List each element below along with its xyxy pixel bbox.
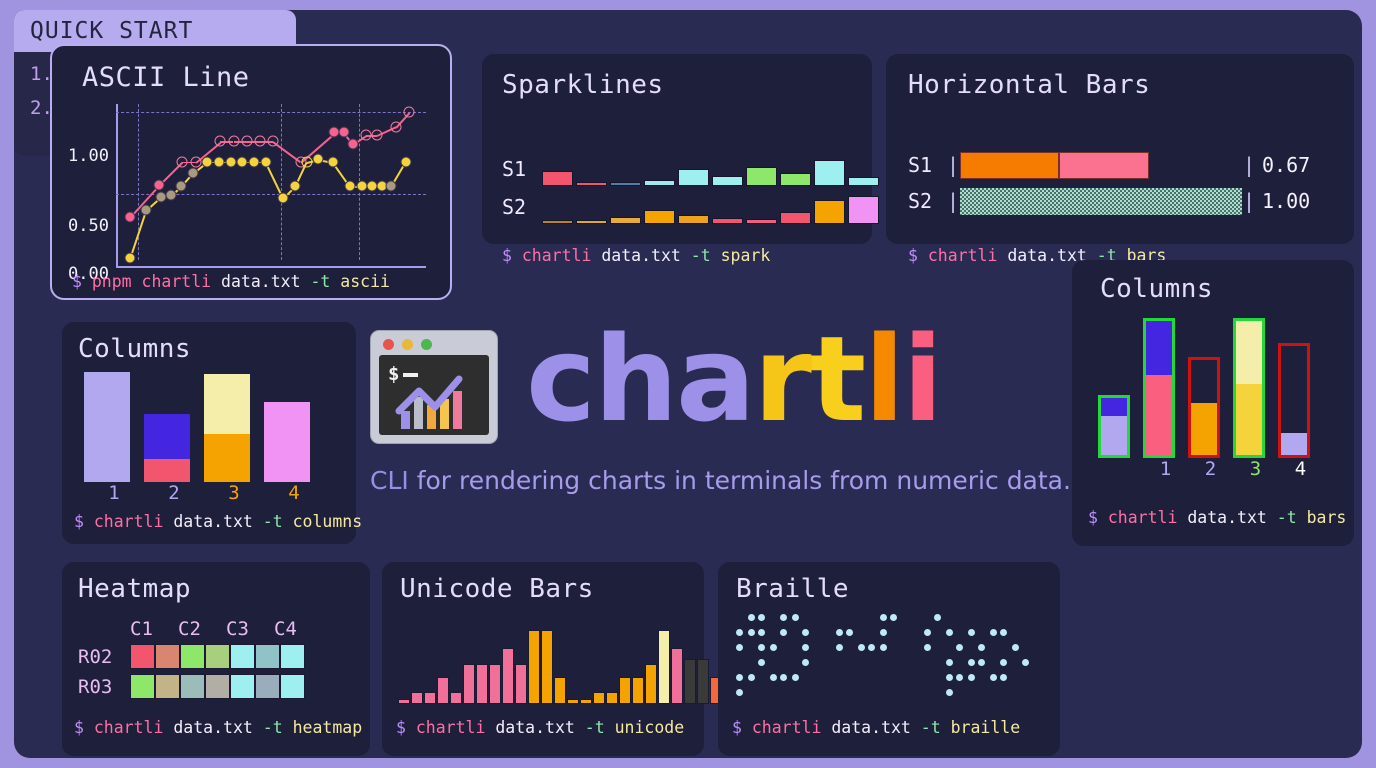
heatmap-column-label: C3 — [226, 618, 274, 640]
wordmark-part-0: cha — [526, 310, 754, 448]
unicode-bar — [463, 664, 475, 705]
shell-prompt: $ — [396, 718, 406, 737]
braille-dot — [1000, 674, 1007, 681]
command-value: columns — [293, 512, 363, 531]
unicode-bar — [658, 630, 670, 704]
braille-dot — [758, 644, 765, 651]
shell-prompt: $ — [732, 718, 742, 737]
sparkline-bar — [576, 220, 607, 224]
data-point — [165, 190, 176, 201]
column-label: 3 — [1233, 458, 1278, 480]
sparkline-bar — [746, 167, 777, 186]
ascii-line-card: ASCII Line 1.00 0.50 0.00 $ pnpm chartli… — [50, 44, 452, 300]
hbar-pipe-left: | — [946, 189, 960, 213]
data-point — [260, 156, 271, 167]
command-program: chartli — [752, 718, 822, 737]
unicode-bar — [684, 659, 696, 704]
braille-dot — [770, 674, 777, 681]
column-label: 3 — [204, 482, 264, 504]
column-bar — [144, 414, 190, 482]
braille-dot — [946, 674, 953, 681]
braille-dot — [890, 614, 897, 621]
column-segment — [1191, 360, 1217, 403]
sparkline-bar — [576, 182, 607, 186]
heatmap-command: $ chartli data.txt -t heatmap — [74, 718, 362, 737]
command-value: heatmap — [293, 718, 363, 737]
braille-dot — [1022, 659, 1029, 666]
braille-dot — [880, 614, 887, 621]
data-point — [345, 181, 356, 192]
command-flag: -t — [263, 718, 283, 737]
sparkline-bar — [780, 173, 811, 186]
tagline: CLI for rendering charts in terminals fr… — [370, 466, 1071, 495]
column-bar — [1098, 395, 1130, 458]
data-point — [175, 181, 186, 192]
unicode-bar — [437, 677, 449, 704]
braille-dot — [770, 644, 777, 651]
heatmap-cell — [230, 644, 255, 669]
command-flag: -t — [263, 512, 283, 531]
gridline-v — [281, 104, 282, 260]
columns-right-labels: 1234 — [1098, 458, 1323, 480]
column-bar — [1188, 357, 1220, 458]
data-point — [187, 168, 198, 179]
braille-dot — [748, 674, 755, 681]
column-bar — [204, 374, 250, 482]
hbar-fill-orange — [960, 152, 1059, 179]
hbar-pipe-right: | — [1242, 189, 1256, 213]
heatmap-column-label: C1 — [130, 618, 178, 640]
sparkline-bar — [848, 177, 879, 186]
svg-text:$: $ — [388, 363, 399, 385]
braille-dot — [880, 629, 887, 636]
command-file: data.txt — [173, 512, 252, 531]
data-point — [228, 136, 239, 147]
data-point — [301, 156, 312, 167]
unicode-bar — [554, 677, 566, 704]
sparklines-card: Sparklines S1 S2 $ chartli data.txt -t s… — [482, 54, 872, 244]
unicode-bar — [619, 677, 631, 704]
braille-dot — [1000, 659, 1007, 666]
ascii-command: $ pnpm chartli data.txt -t ascii — [72, 272, 390, 291]
braille-dot — [990, 629, 997, 636]
heatmap-row-label: R02 — [78, 646, 130, 668]
data-point — [124, 253, 135, 264]
braille-dot — [968, 674, 975, 681]
heatmap-cell — [180, 644, 205, 669]
tagline-lead: CLI — [370, 466, 409, 495]
braille-dot — [968, 659, 975, 666]
shell-prompt: $ — [1088, 508, 1098, 527]
braille-dot — [978, 659, 985, 666]
wordmark-part-2: t — [810, 310, 864, 448]
braille-dot — [968, 629, 975, 636]
command-value: braille — [951, 718, 1021, 737]
braille-dot — [978, 644, 985, 651]
sparkline-bar — [610, 182, 641, 186]
column-segment — [144, 414, 190, 459]
sparkline-bar — [644, 210, 675, 224]
sparkline-bar — [542, 171, 573, 186]
braille-dot — [780, 614, 787, 621]
terminal-chart-icon: $ — [370, 330, 498, 444]
ascii-ytick-1: 1.00 — [68, 146, 109, 166]
hbar-track — [960, 188, 1242, 215]
sparklines-command: $ chartli data.txt -t spark — [502, 246, 770, 265]
heatmap-card: Heatmap C1C2C3C4 R02 R03 $ chartli data.… — [62, 562, 370, 756]
command-file: data.txt — [221, 272, 300, 291]
braille-command: $ chartli data.txt -t braille — [732, 718, 1020, 737]
wordmark: chartli — [526, 320, 941, 438]
unicode-bars-card: Unicode Bars $ chartli data.txt -t unico… — [382, 562, 704, 756]
command-flag: -t — [310, 272, 330, 291]
column-bar — [1233, 318, 1265, 458]
braille-dot — [736, 644, 743, 651]
unicode-bar — [502, 648, 514, 704]
data-point — [403, 107, 414, 118]
column-segment — [1146, 321, 1172, 375]
wordmark-part-3: l — [864, 310, 902, 448]
command-flag: -t — [1277, 508, 1297, 527]
data-point — [202, 156, 213, 167]
sparkline-label: S2 — [502, 190, 542, 224]
sparklines-title: Sparklines — [502, 70, 664, 100]
data-point — [254, 136, 265, 147]
heatmap-cells — [130, 644, 305, 669]
braille-plot — [736, 614, 1036, 704]
data-point — [278, 193, 289, 204]
wordmark-part-4: i — [903, 310, 941, 448]
heatmap-cell — [255, 674, 280, 699]
ascii-line-plot — [116, 104, 426, 268]
braille-dot — [836, 629, 843, 636]
traffic-light-green — [421, 339, 432, 350]
sparkline-bars — [542, 190, 879, 224]
data-point — [213, 156, 224, 167]
column-bar — [84, 372, 130, 482]
sparkline-bar — [814, 200, 845, 224]
column-segment — [1236, 321, 1262, 384]
data-point — [154, 180, 165, 191]
command-program: chartli — [94, 512, 164, 531]
sparkline-bar — [780, 212, 811, 224]
unicode-bar — [697, 659, 709, 704]
quick-start-title: QUICK START — [30, 18, 193, 44]
command-file: data.txt — [173, 718, 252, 737]
columns-right-command: $ chartli data.txt -t bars — [1088, 508, 1346, 527]
unicode-bar — [515, 664, 527, 705]
traffic-light-yellow — [402, 339, 413, 350]
column-label: 4 — [264, 482, 324, 504]
column-segment — [264, 402, 310, 482]
sparkline-bar — [678, 215, 709, 224]
horizontal-bars-title: Horizontal Bars — [908, 70, 1150, 100]
unicode-bar — [411, 692, 423, 704]
column-segment — [1101, 416, 1127, 455]
unicode-bar — [632, 677, 644, 704]
wordmark-part-1: r — [754, 310, 810, 448]
braille-dot — [946, 659, 953, 666]
data-point — [225, 156, 236, 167]
braille-dot — [934, 614, 941, 621]
command-flag: -t — [921, 718, 941, 737]
columns-right-card: Columns 1234 $ chartli data.txt -t bars — [1072, 260, 1354, 546]
shell-prompt: $ — [74, 512, 84, 531]
unicode-bar — [671, 648, 683, 704]
unicode-bar — [567, 699, 579, 704]
command-program: chartli — [928, 246, 998, 265]
braille-dot — [836, 644, 843, 651]
braille-dot — [1012, 644, 1019, 651]
data-point — [155, 191, 166, 202]
column-bar — [1143, 318, 1175, 458]
data-point — [248, 156, 259, 167]
hero-branding: $ chartli CLI for rendering charts in te… — [366, 326, 1056, 506]
heatmap-cell — [230, 674, 255, 699]
braille-dot — [736, 674, 743, 681]
unicode-bar — [580, 699, 592, 704]
heatmap-cell — [255, 644, 280, 669]
braille-dot — [802, 659, 809, 666]
command-program: pnpm chartli — [92, 272, 211, 291]
heatmap-row-label: R03 — [78, 676, 130, 698]
columns-right-title: Columns — [1100, 274, 1213, 304]
hbar-label: S2 — [908, 189, 946, 213]
tagline-rest: for rendering charts in terminals from n… — [409, 466, 1071, 495]
hbar-value: 0.67 — [1262, 153, 1310, 177]
data-point — [339, 127, 350, 138]
sparkline-bar — [678, 169, 709, 186]
heatmap-column-label: C2 — [178, 618, 226, 640]
data-point — [390, 121, 401, 132]
command-program: chartli — [94, 718, 164, 737]
braille-dot — [792, 614, 799, 621]
columns-left-title: Columns — [78, 334, 191, 364]
unicode-bar — [476, 664, 488, 705]
column-bar — [264, 402, 310, 482]
data-point — [140, 204, 151, 215]
data-point — [313, 153, 324, 164]
command-program: chartli — [416, 718, 486, 737]
command-file: data.txt — [1187, 508, 1266, 527]
column-segment — [144, 459, 190, 482]
unicode-bar — [645, 664, 657, 705]
columns-left-command: $ chartli data.txt -t columns — [74, 512, 362, 531]
heatmap-column-label: C4 — [274, 618, 322, 640]
unicode-bar — [606, 692, 618, 704]
command-flag: -t — [691, 246, 711, 265]
data-point — [386, 181, 397, 192]
unicode-bars-plot — [398, 614, 735, 704]
braille-dot — [956, 674, 963, 681]
command-file: data.txt — [831, 718, 910, 737]
column-label — [1098, 458, 1143, 480]
hbar-row-s2: S2 | | 1.00 — [908, 186, 1310, 216]
braille-dot — [880, 644, 887, 651]
sparkline-bar — [746, 219, 777, 224]
heatmap-cells — [130, 674, 305, 699]
sparkline-bar — [610, 217, 641, 224]
terminal-screen-content: $ — [379, 355, 491, 437]
braille-dot — [1000, 629, 1007, 636]
command-value: bars — [1307, 508, 1347, 527]
column-segment — [1146, 375, 1172, 455]
command-file: data.txt — [601, 246, 680, 265]
sparkline-bar — [712, 176, 743, 186]
ascii-line-title: ASCII Line — [82, 62, 250, 93]
data-point — [177, 156, 188, 167]
unicode-bar — [489, 664, 501, 705]
heatmap-cell — [155, 674, 180, 699]
data-point — [371, 130, 382, 141]
sparkline-bar — [542, 220, 573, 224]
sparkline-bar — [848, 196, 879, 224]
data-point — [348, 139, 359, 150]
shell-prompt: $ — [74, 718, 84, 737]
shell-prompt: $ — [908, 246, 918, 265]
column-segment — [204, 374, 250, 433]
heatmap-cell — [130, 644, 155, 669]
unicode-bar — [528, 630, 540, 704]
command-file: data.txt — [495, 718, 574, 737]
unicode-bar — [450, 692, 462, 704]
braille-dot — [802, 644, 809, 651]
braille-card: Braille $ chartli data.txt -t braille — [718, 562, 1060, 756]
braille-dot — [946, 689, 953, 696]
braille-dot — [946, 629, 953, 636]
columns-left-labels: 1234 — [84, 482, 324, 504]
unicode-bar — [398, 699, 410, 704]
unicode-bar — [541, 630, 553, 704]
command-value: unicode — [615, 718, 685, 737]
hbar-label: S1 — [908, 153, 946, 177]
column-label: 2 — [144, 482, 204, 504]
shell-prompt: $ — [502, 246, 512, 265]
data-point — [289, 181, 300, 192]
data-point — [241, 136, 252, 147]
data-point — [237, 156, 248, 167]
terminal-screen: $ — [379, 355, 489, 435]
shell-prompt: $ — [72, 272, 82, 291]
heatmap-cell — [205, 674, 230, 699]
command-value: spark — [721, 246, 771, 265]
sparkline-row-s2: S2 — [502, 190, 879, 224]
command-value: ascii — [340, 272, 390, 291]
braille-dot — [736, 629, 743, 636]
heatmap-cell — [280, 644, 305, 669]
command-program: chartli — [1108, 508, 1178, 527]
column-segment — [1281, 346, 1307, 433]
command-program: chartli — [522, 246, 592, 265]
braille-dot — [990, 674, 997, 681]
sparkline-row-s1: S1 — [502, 152, 879, 186]
braille-dot — [956, 644, 963, 651]
sparkline-bar — [712, 218, 743, 224]
sparkline-bars — [542, 152, 879, 186]
data-point — [327, 156, 338, 167]
column-segment — [1236, 384, 1262, 455]
hbar-track — [960, 152, 1242, 179]
data-point — [215, 136, 226, 147]
hbar-fill-checker — [960, 188, 1242, 215]
traffic-light-red — [383, 339, 394, 350]
braille-dot — [748, 614, 755, 621]
data-point — [267, 136, 278, 147]
sparkline-bar — [814, 160, 845, 186]
braille-dot — [802, 629, 809, 636]
sparkline-bar — [644, 180, 675, 186]
columns-left-card: Columns 1234 $ chartli data.txt -t colum… — [62, 322, 356, 544]
horizontal-bars-card: Horizontal Bars S1 | | 0.67 S2 | | 1.00 … — [886, 54, 1354, 244]
column-bar — [1278, 343, 1310, 458]
column-label: 2 — [1188, 458, 1233, 480]
poster-frame: ASCII Line 1.00 0.50 0.00 $ pnpm chartli… — [14, 10, 1362, 758]
unicode-bars-title: Unicode Bars — [400, 574, 594, 604]
ascii-ytick-2: 0.50 — [68, 216, 109, 236]
heatmap-column-labels: C1C2C3C4 — [130, 618, 322, 640]
heatmap-cell — [205, 644, 230, 669]
braille-dot — [792, 674, 799, 681]
column-label: 1 — [1143, 458, 1188, 480]
braille-dot — [736, 689, 743, 696]
column-label: 1 — [84, 482, 144, 504]
braille-dot — [924, 644, 931, 651]
y-axis — [116, 104, 118, 268]
unicode-bar — [424, 692, 436, 704]
heatmap-cell — [280, 674, 305, 699]
gridline-h — [116, 112, 426, 113]
sparkline-label: S1 — [502, 152, 542, 186]
x-axis — [116, 266, 426, 268]
hbar-pipe-left: | — [946, 153, 960, 177]
braille-dot — [748, 629, 755, 636]
data-point — [190, 156, 201, 167]
braille-dot — [846, 629, 853, 636]
data-point — [400, 156, 411, 167]
unicode-bars-command: $ chartli data.txt -t unicode — [396, 718, 684, 737]
column-segment — [84, 372, 130, 482]
heatmap-row-r03: R03 — [78, 674, 305, 699]
hbar-value: 1.00 — [1262, 189, 1310, 213]
data-point — [124, 212, 135, 223]
heatmap-row-r02: R02 — [78, 644, 305, 669]
heatmap-cell — [130, 674, 155, 699]
braille-dot — [858, 644, 865, 651]
braille-dot — [758, 659, 765, 666]
columns-left-bars — [84, 372, 324, 482]
braille-dot — [780, 629, 787, 636]
unicode-bar — [593, 692, 605, 704]
heatmap-cell — [180, 674, 205, 699]
column-segment — [204, 434, 250, 483]
column-label: 4 — [1278, 458, 1323, 480]
braille-dot — [758, 629, 765, 636]
hbar-pipe-right: | — [1242, 153, 1256, 177]
hbar-row-s1: S1 | | 0.67 — [908, 150, 1310, 180]
braille-dot — [780, 674, 787, 681]
heatmap-title: Heatmap — [78, 574, 191, 604]
braille-title: Braille — [736, 574, 849, 604]
heatmap-cell — [155, 644, 180, 669]
braille-dot — [868, 644, 875, 651]
columns-right-bars — [1098, 318, 1323, 458]
column-segment — [1101, 398, 1127, 416]
hbar-fill-pink — [1059, 152, 1149, 179]
command-flag: -t — [585, 718, 605, 737]
column-segment — [1281, 433, 1307, 455]
braille-dot — [758, 614, 765, 621]
braille-dot — [924, 629, 931, 636]
